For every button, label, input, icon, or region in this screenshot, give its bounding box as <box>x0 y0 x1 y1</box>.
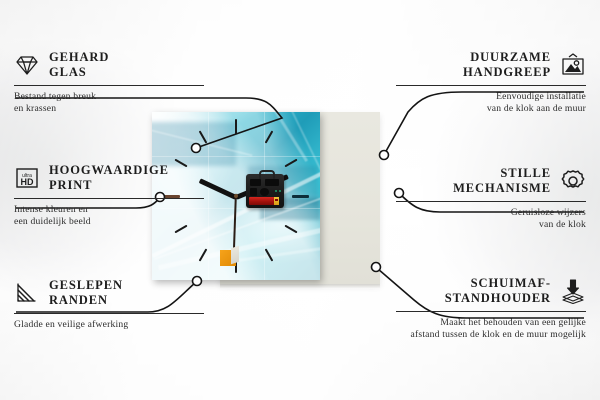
feature-description: Gladde en veilige afwerking <box>14 319 204 331</box>
feature-title-line1: GESLEPEN <box>49 278 123 293</box>
feature-divider <box>14 198 204 199</box>
feature-desc-line2: en krassen <box>14 103 204 115</box>
feature-desc-line2: van de klok <box>396 219 586 231</box>
feature-title-line2: GLAS <box>49 65 109 80</box>
feature-desc-line1: Eenvoudige installatie <box>396 91 586 103</box>
feature-desc-line1: Intense kleuren en <box>14 204 204 216</box>
movement-detail <box>265 179 279 186</box>
infographic-canvas: GEHARD GLAS Bestand tegen breuk en krass… <box>0 0 600 400</box>
feature-title-line1: SCHUIMAF- <box>445 276 551 291</box>
hanging-picture-icon <box>560 52 586 78</box>
feature-title: GESLEPEN RANDEN <box>49 278 123 309</box>
feature-title-line1: HOOGWAARDIGE <box>49 163 169 178</box>
glass-texture-patch <box>152 122 236 166</box>
ultra-hd-icon: ultra HD <box>14 165 40 191</box>
feature-gehard-glas: GEHARD GLAS Bestand tegen breuk en krass… <box>14 50 204 115</box>
feature-description: Eenvoudige installatie van de klok aan d… <box>396 91 586 116</box>
feature-header: DUURZAME HANDGREEP <box>396 50 586 81</box>
clock-tick-1 <box>265 130 274 143</box>
clock-tick-4 <box>284 225 297 234</box>
feature-description: Intense kleuren en een duidelijk beeld <box>14 204 204 229</box>
aa-battery <box>249 197 279 205</box>
feature-header: ultra HD HOOGWAARDIGE PRINT <box>14 163 204 194</box>
feature-divider <box>396 311 586 312</box>
movement-detail <box>250 188 257 196</box>
feature-title-line1: STILLE <box>453 166 551 181</box>
feature-desc-line2: van de klok aan de muur <box>396 103 586 115</box>
gear-icon <box>560 168 586 194</box>
feature-description: Bestand tegen breuk en krassen <box>14 91 204 116</box>
feature-desc-line1: Maakt het behouden van een gelijke <box>396 317 586 329</box>
feature-title-line2: RANDEN <box>49 293 123 308</box>
foam-spacer-icon <box>560 278 586 304</box>
movement-indicator <box>279 190 281 192</box>
glass-pane-line <box>152 156 320 157</box>
movement-hanger <box>259 170 275 179</box>
battery-positive-terminal <box>274 197 279 205</box>
feature-divider <box>396 85 586 86</box>
feature-hoogwaardige-print: ultra HD HOOGWAARDIGE PRINT Intense kleu… <box>14 163 204 228</box>
feature-duurzame-handgreep: DUURZAME HANDGREEP Eenvoudige installati… <box>396 50 586 115</box>
feature-header: GESLEPEN RANDEN <box>14 278 204 309</box>
clock-movement <box>246 174 284 208</box>
clock-tick-12 <box>235 119 237 134</box>
movement-detail <box>260 188 269 196</box>
feature-schuimafstandhouder: SCHUIMAF- STANDHOUDER Maakt het behouden… <box>396 276 586 341</box>
feature-desc-line2: afstand tussen de klok en de muur mogeli… <box>396 329 586 341</box>
feature-desc-line1: Bestand tegen breuk <box>14 91 204 103</box>
feature-header: SCHUIMAF- STANDHOUDER <box>396 276 586 307</box>
clock-center-pin <box>234 194 238 198</box>
connector-node-handgreep <box>380 151 389 160</box>
feature-title-line2: MECHANISME <box>453 181 551 196</box>
diamond-icon <box>14 52 40 78</box>
feature-title-line2: HANDGREEP <box>463 65 551 80</box>
feature-title-line1: DUURZAME <box>463 50 551 65</box>
movement-indicator <box>275 190 277 192</box>
ultra-hd-bottom-text: HD <box>21 177 34 187</box>
feature-desc-line1: Geruisloze wijzers <box>396 207 586 219</box>
feature-title: SCHUIMAF- STANDHOUDER <box>445 276 551 307</box>
feature-title: STILLE MECHANISME <box>453 166 551 197</box>
feature-divider <box>14 313 204 314</box>
movement-detail <box>250 179 261 186</box>
feature-title: GEHARD GLAS <box>49 50 109 81</box>
glass-pane-line <box>208 112 209 280</box>
foam-spacer <box>220 250 236 266</box>
feature-description: Maakt het behouden van een gelijke afsta… <box>396 317 586 342</box>
clock-hour-hand <box>199 178 237 199</box>
feature-desc-line2: een duidelijk beeld <box>14 216 204 228</box>
beveled-edge-icon <box>14 280 40 306</box>
feature-header: STILLE MECHANISME <box>396 166 586 197</box>
feature-title-line2: PRINT <box>49 178 169 193</box>
feature-geslepen-randen: GESLEPEN RANDEN Gladde en veilige afwerk… <box>14 278 204 331</box>
feature-title-line1: GEHARD <box>49 50 109 65</box>
feature-title: DUURZAME HANDGREEP <box>463 50 551 81</box>
feature-divider <box>396 201 586 202</box>
feature-header: GEHARD GLAS <box>14 50 204 81</box>
feature-title: HOOGWAARDIGE PRINT <box>49 163 169 194</box>
feature-stille-mechanisme: STILLE MECHANISME Geruisloze wijzers van… <box>396 166 586 231</box>
clock-tick-3 <box>292 195 309 198</box>
feature-title-line2: STANDHOUDER <box>445 291 551 306</box>
feature-description: Geruisloze wijzers van de klok <box>396 207 586 232</box>
feature-divider <box>14 85 204 86</box>
feature-desc-line1: Gladde en veilige afwerking <box>14 319 204 331</box>
